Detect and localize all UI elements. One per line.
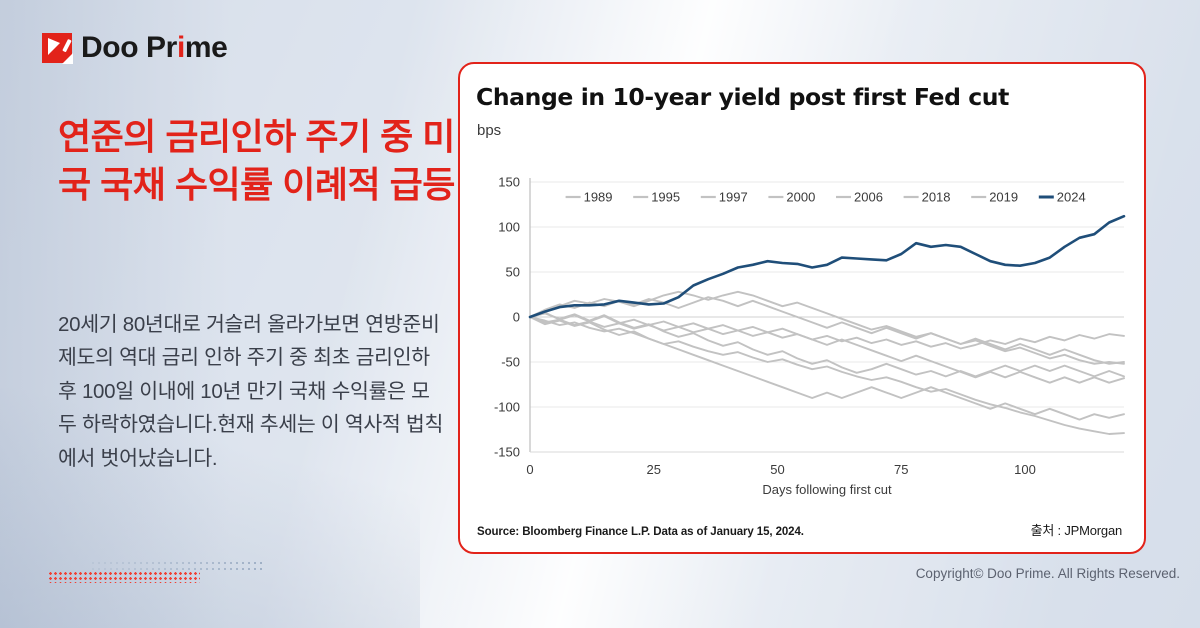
x-axis-tick-label: 0	[526, 462, 533, 477]
copyright-notice: Copyright© Doo Prime. All Rights Reserve…	[916, 566, 1180, 581]
legend-label-2024: 2024	[1057, 190, 1086, 205]
x-axis-tick-label: 100	[1014, 462, 1036, 477]
chart-card: Change in 10-year yield post first Fed c…	[458, 62, 1146, 554]
x-axis-tick-label: 50	[770, 462, 784, 477]
line-chart-svg: 150100500-50-100-1500255075100Days follo…	[468, 164, 1140, 509]
y-axis-tick-label: -50	[501, 355, 520, 370]
y-axis-tick-label: 50	[506, 265, 520, 280]
x-axis-tick-label: 25	[647, 462, 661, 477]
legend-label-1989: 1989	[584, 190, 613, 205]
decorative-dot-bar	[48, 560, 263, 586]
y-axis-tick-label: -100	[494, 400, 520, 415]
chart-title: Change in 10-year yield post first Fed c…	[476, 83, 1009, 111]
chart-source-note: Source: Bloomberg Finance L.P. Data as o…	[477, 526, 804, 538]
y-axis-tick-label: 100	[498, 220, 520, 235]
red-dot-grid-icon	[48, 571, 200, 583]
brand-logo[interactable]: Doo Prime	[42, 31, 227, 65]
x-axis-title: Days following first cut	[762, 482, 892, 497]
chart-attribution: 출처 : JPMorgan	[1031, 520, 1122, 539]
left-content-column: Doo Prime 연준의 금리인하 주기 중 미국 국채 수익률 이례적 급등…	[40, 0, 460, 628]
legend-label-1995: 1995	[651, 190, 680, 205]
chart-unit-label: bps	[477, 122, 501, 139]
legend-label-2006: 2006	[854, 190, 883, 205]
chart-plot-area: 150100500-50-100-1500255075100Days follo…	[468, 164, 1140, 509]
page-title: 연준의 금리인하 주기 중 미국 국채 수익률 이례적 급등	[58, 113, 458, 209]
y-axis-tick-label: -150	[494, 445, 520, 460]
brand-accent-letter: i	[177, 31, 185, 64]
series-line-2019	[530, 313, 1124, 383]
legend-label-2018: 2018	[922, 190, 951, 205]
y-axis-tick-label: 0	[513, 310, 520, 325]
legend-label-2000: 2000	[786, 190, 815, 205]
legend-label-1997: 1997	[719, 190, 748, 205]
legend-label-2019: 2019	[989, 190, 1018, 205]
doo-prime-mark-icon	[42, 33, 72, 63]
y-axis-tick-label: 150	[498, 175, 520, 190]
brand-name: Doo Prime	[81, 31, 227, 65]
series-line-2018	[530, 317, 1124, 420]
series-line-2024	[530, 216, 1124, 317]
chart-legend: 19891995199720002006201820192024	[566, 190, 1086, 205]
x-axis-tick-label: 75	[894, 462, 908, 477]
body-paragraph: 20세기 80년대로 거슬러 올라가보면 연방준비제도의 역대 금리 인하 주기…	[58, 308, 448, 475]
